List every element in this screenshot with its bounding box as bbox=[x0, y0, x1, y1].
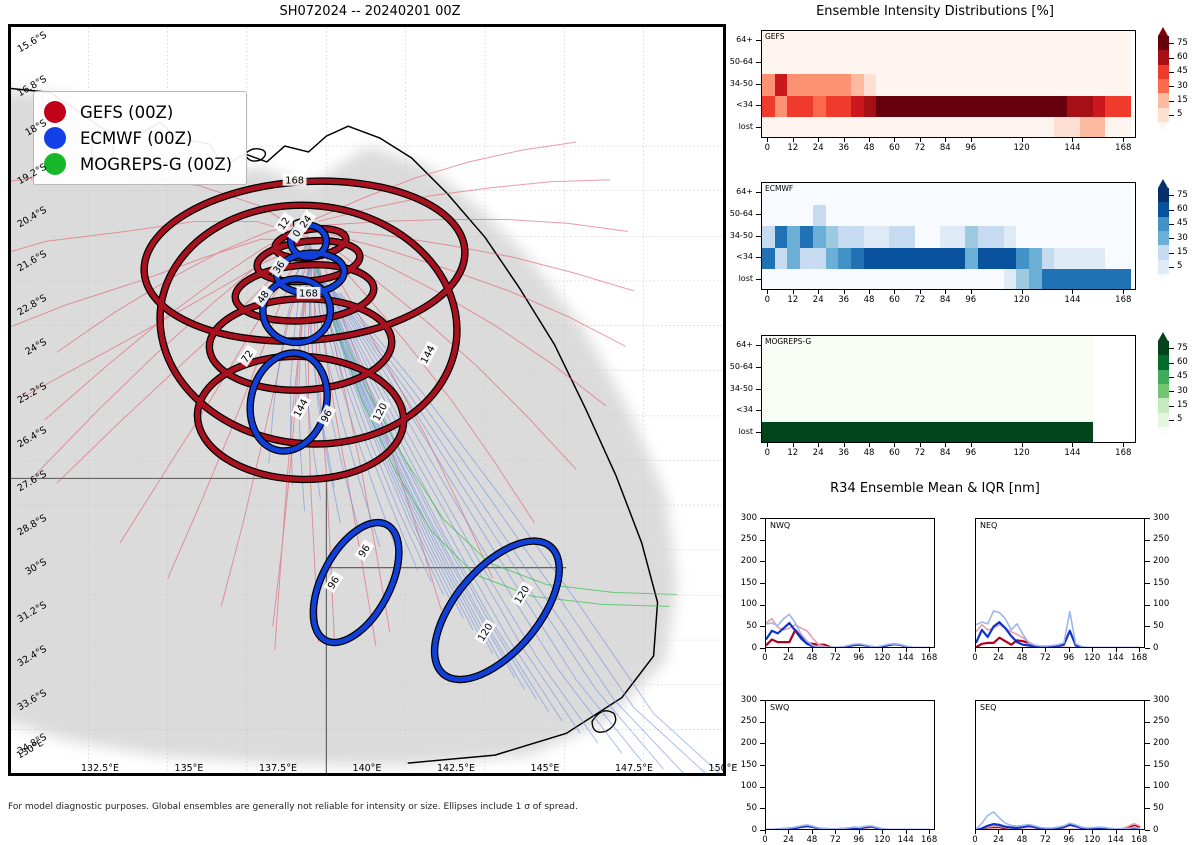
heatmap-cell bbox=[940, 205, 953, 227]
heatmap-cell bbox=[1004, 31, 1017, 53]
heatmap-cell bbox=[1054, 269, 1067, 290]
quadrant-y-tick bbox=[1145, 648, 1150, 649]
heatmap-cell bbox=[851, 31, 864, 53]
heatmap-cell bbox=[800, 96, 813, 118]
heatmap-cell bbox=[927, 31, 940, 53]
heatmap-cell bbox=[838, 53, 851, 75]
heatmap-cell bbox=[1004, 205, 1017, 227]
colorbar-tick-label: 75 bbox=[1177, 343, 1188, 353]
heatmap-cell bbox=[1004, 117, 1017, 138]
heatmap-cell bbox=[1029, 31, 1042, 53]
heatmap-cell bbox=[813, 31, 826, 53]
quadrant-x-label: 168 bbox=[913, 835, 945, 845]
heatmap-cell bbox=[1105, 96, 1118, 118]
heatmap-cell bbox=[902, 336, 915, 358]
heatmap-cell bbox=[991, 117, 1004, 138]
colorbar-segment bbox=[1158, 65, 1169, 79]
heatmap-cell bbox=[953, 248, 966, 270]
heatmap-cell bbox=[1029, 269, 1042, 290]
quadrant-x-tick bbox=[835, 830, 836, 834]
heatmap-cell bbox=[1067, 53, 1080, 75]
heatmap-cell bbox=[991, 401, 1004, 423]
lon-tick-label: 132.5°E bbox=[80, 763, 120, 774]
heatmap-cell bbox=[991, 183, 1004, 205]
heatmap-cell bbox=[978, 248, 991, 270]
heatmap-cell bbox=[965, 96, 978, 118]
heatmap-cell bbox=[1042, 226, 1055, 248]
r34-nwq[interactable]: NWQ bbox=[765, 518, 935, 648]
colorbar-tick bbox=[1169, 267, 1174, 268]
heatmap-cell bbox=[915, 422, 928, 443]
heatmap-cell bbox=[978, 269, 991, 290]
heatmap-cell bbox=[1067, 31, 1080, 53]
heatmap-cell bbox=[940, 336, 953, 358]
quadrant-y-label: 50 bbox=[725, 803, 757, 813]
quadrant-x-tick bbox=[1022, 648, 1023, 652]
heatmap-cell bbox=[851, 74, 864, 96]
quadrant-x-tick bbox=[906, 830, 907, 834]
heatmap-cell bbox=[1054, 248, 1067, 270]
colorbar-tick-label: 15 bbox=[1177, 400, 1188, 410]
heatmap-cell bbox=[1054, 401, 1067, 423]
heatmap-cell bbox=[965, 117, 978, 138]
heatmap-cell bbox=[991, 358, 1004, 380]
heatmap-cell bbox=[1080, 183, 1093, 205]
legend-label-gefs: GEFS (00Z) bbox=[80, 103, 173, 122]
heatmap-cell bbox=[800, 53, 813, 75]
heatmap-cell bbox=[1105, 226, 1118, 248]
heatmap-cell bbox=[787, 358, 800, 380]
heatmap-cell bbox=[915, 269, 928, 290]
heatmap-cell bbox=[978, 422, 991, 443]
colorbar-segment bbox=[1158, 36, 1169, 50]
svg-text:168: 168 bbox=[285, 175, 304, 186]
heatmap-cell bbox=[1016, 96, 1029, 118]
r34-seq[interactable]: SEQ bbox=[975, 700, 1145, 830]
heatmap-y-label: 34-50 bbox=[703, 79, 753, 88]
heatmap-cell bbox=[813, 205, 826, 227]
heatmap-cell bbox=[978, 226, 991, 248]
heatmap-cell bbox=[1029, 205, 1042, 227]
colorbar-tick bbox=[1169, 363, 1174, 364]
quadrant-y-tick bbox=[1145, 626, 1150, 627]
heatmap-cell bbox=[851, 358, 864, 380]
heatmap-cell bbox=[1118, 96, 1131, 118]
heatmap-cell bbox=[1105, 117, 1118, 138]
heatmap-cell bbox=[800, 269, 813, 290]
heatmap-cell bbox=[838, 183, 851, 205]
heatmap-cell bbox=[1067, 183, 1080, 205]
quadrant-y-label: 300 bbox=[1153, 513, 1169, 523]
heatmap-cell bbox=[889, 53, 902, 75]
heatmap-cell bbox=[787, 96, 800, 118]
legend-label-mogreps: MOGREPS-G (00Z) bbox=[80, 155, 232, 174]
r34-section-title: R34 Ensemble Mean & IQR [nm] bbox=[735, 481, 1135, 496]
colorbar-segment bbox=[1158, 79, 1169, 93]
heatmap-cell bbox=[813, 422, 826, 443]
heatmap-cell bbox=[1105, 248, 1118, 270]
quadrant-label: SEQ bbox=[980, 703, 996, 712]
heatmap-y-label: 64+ bbox=[703, 340, 753, 349]
heatmap-cell bbox=[889, 205, 902, 227]
gefs-heatmap[interactable]: GEFS bbox=[761, 30, 1136, 138]
heatmap-y-tick bbox=[756, 105, 761, 106]
heatmap-cell bbox=[1067, 248, 1080, 270]
heatmap-cell bbox=[1093, 117, 1106, 138]
colorbar-tick bbox=[1169, 115, 1174, 116]
heatmap-cell bbox=[1016, 269, 1029, 290]
heatmap-cell bbox=[813, 336, 826, 358]
heatmap-y-tick bbox=[756, 279, 761, 280]
heatmap-cell bbox=[1016, 117, 1029, 138]
heatmap-x-label: 96 bbox=[955, 143, 987, 153]
quadrant-x-tick bbox=[998, 648, 999, 652]
quadrant-x-tick bbox=[859, 648, 860, 652]
heatmap-cell bbox=[800, 226, 813, 248]
heatmap-y-tick bbox=[756, 62, 761, 63]
heatmap-cell bbox=[1004, 401, 1017, 423]
heatmap-cell bbox=[1029, 401, 1042, 423]
quadrant-y-tick bbox=[1145, 765, 1150, 766]
heatmap-cell bbox=[864, 117, 877, 138]
heatmap-cell bbox=[889, 358, 902, 380]
heatmap-cell bbox=[889, 31, 902, 53]
colorbar-cap-top bbox=[1158, 332, 1168, 341]
heatmap-cell bbox=[940, 226, 953, 248]
heatmap-cell bbox=[1093, 53, 1106, 75]
colorbar-tick bbox=[1169, 238, 1174, 239]
heatmap-cell bbox=[1054, 117, 1067, 138]
heatmap-cell bbox=[762, 358, 775, 380]
quadrant-x-label: 168 bbox=[1123, 653, 1155, 663]
heatmap-cell bbox=[800, 248, 813, 270]
heatmap-x-tick bbox=[971, 290, 972, 294]
quadrant-y-tick bbox=[760, 765, 765, 766]
heatmap-cell bbox=[800, 358, 813, 380]
heatmap-cell bbox=[800, 74, 813, 96]
quadrant-x-tick bbox=[1116, 648, 1117, 652]
heatmap-y-tick bbox=[756, 192, 761, 193]
heatmap-y-label: lost bbox=[703, 427, 753, 436]
colorbar-tick-label: 5 bbox=[1177, 109, 1182, 119]
quadrant-y-label: 300 bbox=[725, 513, 757, 523]
heatmap-x-tick bbox=[894, 290, 895, 294]
heatmap-cell bbox=[762, 401, 775, 423]
colorbar-tick bbox=[1169, 86, 1174, 87]
colorbar-tick-label: 5 bbox=[1177, 261, 1182, 271]
quadrant-y-label: 50 bbox=[1153, 803, 1164, 813]
heatmap-y-label: <34 bbox=[703, 405, 753, 414]
colorbar-tick-label: 30 bbox=[1177, 233, 1188, 243]
heatmap-cell bbox=[915, 336, 928, 358]
quadrant-y-label: 150 bbox=[1153, 760, 1169, 770]
heatmap-cell bbox=[762, 422, 775, 443]
heatmap-cell bbox=[1118, 205, 1131, 227]
heatmap-cell bbox=[800, 422, 813, 443]
quadrant-y-label: 0 bbox=[725, 825, 757, 835]
heatmap-cell bbox=[864, 183, 877, 205]
heatmap-cell bbox=[889, 379, 902, 401]
heatmap-cell bbox=[978, 379, 991, 401]
colorbar-segment bbox=[1158, 355, 1169, 369]
heatmap-cell bbox=[787, 379, 800, 401]
heatmap-cell bbox=[889, 226, 902, 248]
heatmap-cell bbox=[826, 269, 839, 290]
heatmap-cell bbox=[965, 205, 978, 227]
heatmap-cell bbox=[902, 269, 915, 290]
heatmap-cell bbox=[864, 269, 877, 290]
quadrant-x-tick bbox=[975, 648, 976, 652]
heatmap-cell bbox=[1105, 74, 1118, 96]
ensemble-section-title: Ensemble Intensity Distributions [%] bbox=[735, 4, 1135, 19]
r34-swq[interactable]: SWQ bbox=[765, 700, 935, 830]
heatmap-cell bbox=[927, 96, 940, 118]
quadrant-label: SWQ bbox=[770, 703, 789, 712]
heatmap-cell bbox=[889, 422, 902, 443]
colorbar-tick-label: 60 bbox=[1177, 52, 1188, 62]
heatmap-cell bbox=[838, 31, 851, 53]
heatmap-cell bbox=[953, 379, 966, 401]
heatmap-cell bbox=[927, 248, 940, 270]
quadrant-x-tick bbox=[859, 830, 860, 834]
heatmap-cell bbox=[1093, 96, 1106, 118]
heatmap-cell bbox=[1042, 74, 1055, 96]
colorbar-segment bbox=[1158, 341, 1169, 355]
heatmap-cell bbox=[851, 401, 864, 423]
heatmap-cell bbox=[787, 205, 800, 227]
heatmap-cell bbox=[1054, 358, 1067, 380]
heatmap-cell bbox=[927, 74, 940, 96]
colorbar-tick bbox=[1169, 406, 1174, 407]
heatmap-cell bbox=[991, 96, 1004, 118]
colorbar-cap-bottom bbox=[1158, 122, 1168, 131]
heatmap-cell bbox=[991, 269, 1004, 290]
heatmap-cell bbox=[1067, 401, 1080, 423]
heatmap-cell bbox=[876, 422, 889, 443]
heatmap-cell bbox=[1080, 336, 1093, 358]
heatmap-cell bbox=[876, 117, 889, 138]
heatmap-cell bbox=[927, 401, 940, 423]
colorbar-tick-label: 30 bbox=[1177, 81, 1188, 91]
heatmap-x-tick bbox=[844, 138, 845, 142]
heatmap-cell bbox=[1054, 96, 1067, 118]
heatmap-cell bbox=[915, 401, 928, 423]
quadrant-label: NEQ bbox=[980, 521, 997, 530]
heatmap-cell bbox=[800, 401, 813, 423]
quadrant-y-tick bbox=[760, 787, 765, 788]
gefs-color-swatch bbox=[44, 101, 66, 123]
quadrant-x-tick bbox=[788, 648, 789, 652]
heatmap-cell bbox=[1042, 379, 1055, 401]
colorbar-segment bbox=[1158, 260, 1169, 274]
heatmap-cell bbox=[1080, 96, 1093, 118]
heatmap-y-label: 64+ bbox=[703, 187, 753, 196]
quadrant-y-tick bbox=[760, 743, 765, 744]
heatmap-cell bbox=[927, 205, 940, 227]
heatmap-cell bbox=[915, 31, 928, 53]
heatmap-cell bbox=[1080, 422, 1093, 443]
heatmap-cell bbox=[1042, 183, 1055, 205]
heatmap-x-tick bbox=[793, 138, 794, 142]
heatmap-cell bbox=[813, 117, 826, 138]
heatmap-x-tick bbox=[920, 290, 921, 294]
heatmap-y-label: 50-64 bbox=[703, 362, 753, 371]
heatmap-cell bbox=[775, 117, 788, 138]
heatmap-cell bbox=[978, 401, 991, 423]
quadrant-canvas bbox=[766, 519, 935, 648]
heatmap-cell bbox=[991, 74, 1004, 96]
heatmap-cell bbox=[965, 183, 978, 205]
heatmap-cell bbox=[978, 31, 991, 53]
quadrant-y-label: 200 bbox=[1153, 556, 1169, 566]
quadrant-y-tick bbox=[1145, 561, 1150, 562]
heatmap-cell bbox=[762, 269, 775, 290]
heatmap-cell bbox=[889, 74, 902, 96]
heatmap-cell bbox=[965, 269, 978, 290]
heatmap-cell bbox=[800, 117, 813, 138]
heatmap-y-tick bbox=[756, 367, 761, 368]
quadrant-y-tick bbox=[1145, 722, 1150, 723]
heatmap-cell bbox=[940, 117, 953, 138]
heatmap-cell bbox=[1054, 336, 1067, 358]
heatmap-cell bbox=[838, 422, 851, 443]
quadrant-y-label: 200 bbox=[1153, 738, 1169, 748]
heatmap-x-tick bbox=[1123, 138, 1124, 142]
heatmap-cell bbox=[978, 183, 991, 205]
heatmap-y-label: 50-64 bbox=[703, 57, 753, 66]
heatmap-cell bbox=[851, 96, 864, 118]
colorbar-tick bbox=[1169, 43, 1174, 44]
heatmap-cell bbox=[826, 358, 839, 380]
heatmap-x-tick bbox=[818, 443, 819, 447]
heatmap-cell bbox=[1054, 74, 1067, 96]
heatmap-y-tick bbox=[756, 127, 761, 128]
heatmap-x-tick bbox=[1072, 443, 1073, 447]
ecmwf-heatmap[interactable]: ECMWF bbox=[761, 182, 1136, 290]
heatmap-cell bbox=[1029, 336, 1042, 358]
heatmap-x-label: 120 bbox=[1006, 295, 1038, 305]
heatmap-cell bbox=[927, 358, 940, 380]
heatmap-cell bbox=[940, 183, 953, 205]
heatmap-y-label: 34-50 bbox=[703, 231, 753, 240]
heatmap-cell bbox=[1105, 269, 1118, 290]
heatmap-cell bbox=[1067, 117, 1080, 138]
heatmap-cell bbox=[927, 269, 940, 290]
heatmap-cell bbox=[813, 74, 826, 96]
heatmap-y-label: lost bbox=[703, 122, 753, 131]
quadrant-y-label: 250 bbox=[725, 534, 757, 544]
quadrant-y-label: 0 bbox=[1153, 643, 1158, 653]
heatmap-cell bbox=[813, 269, 826, 290]
heatmap-cell bbox=[876, 336, 889, 358]
heatmap-cell bbox=[940, 422, 953, 443]
heatmap-cell bbox=[965, 422, 978, 443]
heatmap-cell bbox=[864, 248, 877, 270]
quadrant-y-label: 250 bbox=[725, 716, 757, 726]
mogreps-heatmap[interactable]: MOGREPS-G bbox=[761, 335, 1136, 443]
heatmap-cell bbox=[915, 205, 928, 227]
quadrant-y-label: 0 bbox=[725, 643, 757, 653]
quadrant-y-tick bbox=[760, 561, 765, 562]
heatmap-cell bbox=[1118, 31, 1131, 53]
heatmap-cell bbox=[940, 31, 953, 53]
quadrant-x-label: 168 bbox=[913, 653, 945, 663]
heatmap-cell bbox=[1004, 248, 1017, 270]
heatmap-cell bbox=[1016, 183, 1029, 205]
heatmap-cell bbox=[851, 205, 864, 227]
heatmap-cell bbox=[1016, 358, 1029, 380]
heatmap-cell bbox=[889, 248, 902, 270]
heatmap-cell bbox=[965, 31, 978, 53]
heatmap-cell bbox=[800, 31, 813, 53]
heatmap-cell bbox=[1080, 31, 1093, 53]
heatmap-x-tick bbox=[869, 443, 870, 447]
quadrant-y-label: 100 bbox=[1153, 781, 1169, 791]
colorbar-gefs bbox=[1158, 36, 1169, 122]
heatmap-cell bbox=[876, 74, 889, 96]
quadrant-canvas bbox=[976, 701, 1145, 830]
heatmap-cell bbox=[991, 205, 1004, 227]
heatmap-cell bbox=[1004, 269, 1017, 290]
heatmap-cell bbox=[902, 117, 915, 138]
heatmap-cell bbox=[775, 248, 788, 270]
heatmap-cell bbox=[813, 96, 826, 118]
heatmap-cell bbox=[915, 248, 928, 270]
colorbar-tick-label: 60 bbox=[1177, 357, 1188, 367]
heatmap-cell bbox=[876, 248, 889, 270]
heatmap-cell bbox=[813, 401, 826, 423]
heatmap-cell bbox=[1080, 269, 1093, 290]
heatmap-cell bbox=[927, 183, 940, 205]
heatmap-cell bbox=[800, 183, 813, 205]
quadrant-y-label: 50 bbox=[1153, 621, 1164, 631]
heatmap-cell bbox=[1067, 226, 1080, 248]
heatmap-cell bbox=[775, 422, 788, 443]
heatmap-cell bbox=[1067, 379, 1080, 401]
heatmap-cell bbox=[965, 379, 978, 401]
heatmap-cell bbox=[1118, 269, 1131, 290]
heatmap-y-tick bbox=[756, 389, 761, 390]
colorbar-cap-top bbox=[1158, 27, 1168, 36]
heatmap-cell bbox=[787, 248, 800, 270]
heatmap-cell bbox=[1029, 422, 1042, 443]
heatmap-cell bbox=[1042, 53, 1055, 75]
heatmap-cell bbox=[940, 74, 953, 96]
heatmap-x-tick bbox=[844, 443, 845, 447]
quadrant-x-tick bbox=[1069, 648, 1070, 652]
heatmap-cell bbox=[800, 205, 813, 227]
heatmap-cell bbox=[1080, 226, 1093, 248]
quadrant-y-tick bbox=[1145, 700, 1150, 701]
heatmap-cell bbox=[851, 248, 864, 270]
colorbar-tick-label: 5 bbox=[1177, 414, 1182, 424]
heatmap-cell bbox=[838, 401, 851, 423]
heatmap-cell bbox=[1016, 74, 1029, 96]
colorbar-tick bbox=[1169, 391, 1174, 392]
heatmap-cell bbox=[864, 379, 877, 401]
heatmap-x-tick bbox=[1072, 138, 1073, 142]
heatmap-cell bbox=[1004, 336, 1017, 358]
r34-neq[interactable]: NEQ bbox=[975, 518, 1145, 648]
heatmap-cell bbox=[826, 31, 839, 53]
heatmap-cell bbox=[1093, 31, 1106, 53]
heatmap-cell bbox=[1093, 248, 1106, 270]
heatmap-x-tick bbox=[869, 138, 870, 142]
heatmap-cell bbox=[953, 401, 966, 423]
heatmap-cell bbox=[1067, 358, 1080, 380]
track-map[interactable]: 0 12 24 36 48 72 96 bbox=[8, 24, 726, 776]
quadrant-y-label: 0 bbox=[1153, 825, 1158, 835]
